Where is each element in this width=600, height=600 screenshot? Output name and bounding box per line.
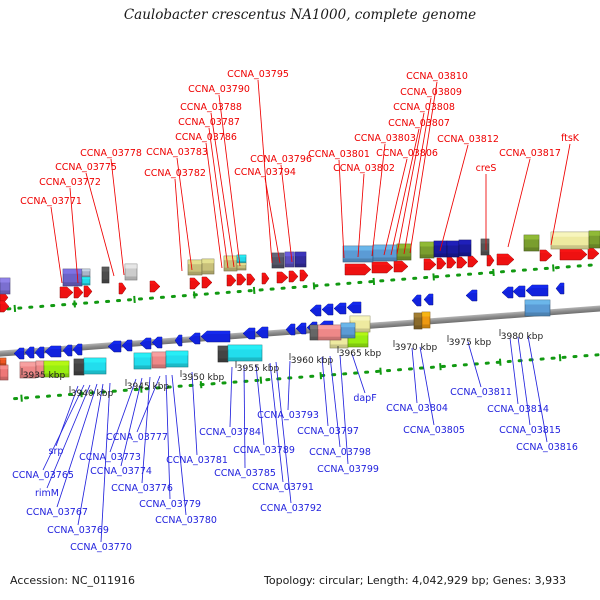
- reverse-gene-arrow[interactable]: [310, 305, 321, 316]
- forward-gene-label[interactable]: CCNA_03808: [393, 102, 455, 113]
- feature-track: [0, 231, 600, 399]
- reverse-gene-label[interactable]: CCNA_03797: [297, 426, 359, 437]
- reverse-gene-arrow[interactable]: [347, 302, 361, 313]
- upper-feature-box[interactable]: [102, 267, 109, 283]
- forward-gene-arrow[interactable]: [497, 254, 514, 265]
- reverse-gene-label[interactable]: CCNA_03816: [516, 442, 578, 453]
- upper-feature-box[interactable]: [82, 269, 90, 277]
- upper-feature-box[interactable]: [0, 278, 10, 294]
- upper-feature-box[interactable]: [524, 235, 539, 251]
- reverse-gene-label[interactable]: CCNA_03774: [90, 466, 152, 477]
- forward-gene-arrow[interactable]: [447, 257, 456, 268]
- forward-gene-label[interactable]: CCNA_03790: [188, 84, 250, 95]
- gene-leader-line: [111, 159, 124, 275]
- reverse-gene-label[interactable]: dapF: [353, 393, 376, 404]
- forward-gene-labels: CCNA_03771CCNA_03772CCNA_03775CCNA_03778…: [20, 69, 580, 207]
- reverse-gene-labels: CCNA_03765rimMCCNA_03767CCNA_03769CCNA_0…: [12, 387, 578, 553]
- forward-gene-arrow[interactable]: [560, 249, 587, 260]
- forward-gene-arrow[interactable]: [540, 250, 552, 261]
- forward-gene-label[interactable]: CCNA_03795: [227, 69, 289, 80]
- genome-summary-text: Topology: circular; Length: 4,042,929 bp…: [263, 574, 566, 587]
- reverse-gene-label[interactable]: CCNA_03767: [26, 507, 88, 518]
- gene-leader-line: [322, 357, 328, 426]
- forward-gene-arrow[interactable]: [289, 271, 298, 282]
- forward-gene-arrow[interactable]: [190, 278, 200, 289]
- gene-leader-line: [288, 361, 290, 410]
- reverse-gene-label[interactable]: CCNA_03773: [79, 452, 141, 463]
- gene-leader-line: [358, 174, 364, 257]
- forward-gene-arrow[interactable]: [487, 255, 494, 266]
- reverse-gene-arrow[interactable]: [334, 303, 346, 314]
- reverse-gene-label[interactable]: CCNA_03765: [12, 470, 74, 481]
- genome-browser-view: Caulobacter crescentus NA1000, complete …: [0, 0, 600, 600]
- axis-tick-label: 3960 kbp: [291, 356, 334, 366]
- gene-leader-line: [281, 165, 292, 262]
- forward-gene-label[interactable]: CCNA_03794: [234, 167, 296, 178]
- reverse-gene-label[interactable]: rimM: [35, 488, 59, 499]
- reverse-gene-label[interactable]: CCNA_03789: [233, 445, 295, 456]
- reverse-gene-label[interactable]: CCNA_03784: [199, 427, 261, 438]
- forward-gene-arrow[interactable]: [60, 287, 73, 298]
- upper-feature-box[interactable]: [373, 245, 397, 261]
- forward-gene-label[interactable]: CCNA_03783: [146, 147, 208, 158]
- upper-feature-box[interactable]: [224, 256, 237, 271]
- axis-tick-label: 3980 kbp: [501, 332, 544, 342]
- reverse-gene-label[interactable]: CCNA_03776: [111, 483, 173, 494]
- forward-gene-arrow[interactable]: [437, 258, 446, 269]
- axis-tick-label: 3950 kbp: [182, 373, 225, 383]
- forward-gene-label[interactable]: CCNA_03809: [400, 87, 462, 98]
- forward-gene-arrow[interactable]: [84, 286, 92, 297]
- reverse-gene-arrow[interactable]: [175, 335, 182, 346]
- forward-gene-arrow[interactable]: [345, 264, 371, 275]
- reverse-gene-label[interactable]: CCNA_03785: [214, 468, 276, 479]
- upper-feature-box[interactable]: [481, 239, 489, 255]
- reverse-gene-arrow[interactable]: [513, 286, 525, 297]
- gene-leader-line: [86, 173, 114, 276]
- gene-leader-line: [372, 144, 385, 256]
- gene-leader-line: [192, 372, 197, 455]
- forward-gene-label[interactable]: CCNA_03801: [308, 149, 370, 160]
- forward-gene-label[interactable]: ftsK: [561, 133, 580, 144]
- forward-gene-arrow[interactable]: [300, 270, 308, 281]
- upper-feature-box[interactable]: [125, 264, 137, 280]
- reverse-gene-arrow[interactable]: [140, 338, 151, 349]
- lower-feature-box[interactable]: [341, 323, 355, 338]
- forward-gene-arrow[interactable]: [202, 277, 212, 288]
- reverse-gene-label[interactable]: CCNA_03770: [70, 542, 132, 553]
- forward-gene-label[interactable]: CCNA_03788: [180, 102, 242, 113]
- reverse-gene-arrow[interactable]: [466, 290, 477, 301]
- forward-gene-arrow[interactable]: [394, 261, 408, 272]
- axis-tick-label: 3975 kbp: [449, 338, 492, 348]
- forward-gene-arrow[interactable]: [150, 281, 160, 292]
- forward-gene-label[interactable]: CCNA_03786: [175, 132, 237, 143]
- lower-feature-box[interactable]: [414, 313, 422, 329]
- forward-gene-arrow[interactable]: [372, 262, 393, 273]
- reverse-gene-label[interactable]: CCNA_03792: [260, 503, 322, 514]
- lower-feature-box[interactable]: [152, 352, 166, 368]
- lower-feature-box[interactable]: [525, 300, 550, 316]
- reverse-gene-label[interactable]: CCNA_03815: [499, 425, 561, 436]
- forward-gene-label[interactable]: CCNA_03803: [354, 133, 416, 144]
- gene-leader-line: [265, 178, 280, 263]
- gene-leader-line: [339, 160, 344, 258]
- gene-leader-line: [209, 128, 228, 268]
- reverse-gene-label[interactable]: CCNA_03799: [317, 464, 379, 475]
- upper-feature-box[interactable]: [237, 255, 246, 263]
- reverse-gene-label[interactable]: CCNA_03781: [166, 455, 228, 466]
- forward-gene-arrow[interactable]: [227, 275, 236, 286]
- upper-feature-box[interactable]: [237, 263, 246, 270]
- upper-feature-box[interactable]: [188, 260, 202, 275]
- upper-feature-box[interactable]: [272, 253, 284, 268]
- forward-gene-label[interactable]: CCNA_03787: [178, 117, 240, 128]
- lower-feature-box[interactable]: [134, 353, 151, 369]
- reverse-gene-label[interactable]: CCNA_03793: [257, 410, 319, 421]
- axis-tick-label: 3945 kbp: [127, 382, 170, 392]
- lower-feature-box[interactable]: [166, 351, 188, 367]
- lower-feature-box[interactable]: [218, 346, 228, 362]
- reverse-gene-arrow[interactable]: [412, 295, 421, 306]
- upper-feature-box[interactable]: [589, 231, 600, 248]
- forward-gene-arrow[interactable]: [457, 257, 467, 268]
- lower-feature-box[interactable]: [0, 365, 8, 380]
- forward-gene-label[interactable]: CCNA_03817: [499, 148, 561, 159]
- upper-feature-box[interactable]: [63, 269, 82, 286]
- reverse-gene-arrow[interactable]: [556, 283, 564, 294]
- gene-leader-line: [172, 375, 186, 515]
- forward-gene-arrow[interactable]: [74, 287, 83, 298]
- upper-feature-box[interactable]: [82, 277, 90, 285]
- reverse-gene-arrow[interactable]: [189, 333, 200, 344]
- reverse-gene-arrow[interactable]: [526, 285, 548, 296]
- forward-gene-arrow[interactable]: [119, 283, 126, 294]
- lower-feature-box[interactable]: [318, 325, 341, 340]
- upper-feature-box[interactable]: [551, 232, 589, 249]
- axis-tick-label: 3965 kbp: [339, 349, 382, 359]
- lower-feature-box[interactable]: [228, 345, 262, 361]
- reverse-gene-label[interactable]: CCNA_03804: [386, 403, 448, 414]
- reverse-gene-label[interactable]: CCNA_03811: [450, 387, 512, 398]
- upper-feature-box[interactable]: [202, 259, 214, 274]
- forward-gene-label[interactable]: CCNA_03772: [39, 177, 101, 188]
- forward-gene-label[interactable]: CCNA_03782: [144, 168, 206, 179]
- reverse-gene-label[interactable]: CCNA_03798: [309, 447, 371, 458]
- page-title: Caulobacter crescentus NA1000, complete …: [124, 7, 476, 23]
- axis-tick-label: 3955 kbp: [237, 364, 280, 374]
- axis-tick-label: 3940 kbp: [71, 389, 114, 399]
- gene-leader-line: [551, 144, 570, 245]
- forward-gene-label[interactable]: CCNA_03796: [250, 154, 312, 165]
- upper-feature-box[interactable]: [420, 242, 434, 258]
- forward-gene-label[interactable]: CCNA_03812: [437, 134, 499, 145]
- reverse-gene-arrow[interactable]: [502, 287, 513, 298]
- reverse-gene-arrow[interactable]: [322, 304, 333, 315]
- forward-gene-label[interactable]: CCNA_03802: [333, 163, 395, 174]
- lower-feature-box[interactable]: [0, 358, 6, 365]
- axis-tick-label: 3935 kbp: [23, 371, 66, 381]
- gene-leader-line: [508, 159, 530, 247]
- upper-feature-box[interactable]: [285, 252, 294, 267]
- gene-leader-line: [175, 179, 182, 271]
- forward-gene-arrow[interactable]: [424, 259, 436, 270]
- forward-gene-arrow[interactable]: [468, 256, 478, 267]
- lower-feature-box[interactable]: [84, 358, 106, 374]
- reverse-gene-label[interactable]: CCNA_03805: [403, 425, 465, 436]
- forward-gene-arrow[interactable]: [262, 273, 269, 284]
- upper-feature-box[interactable]: [447, 241, 459, 257]
- accession-text: Accession: NC_011916: [10, 574, 135, 587]
- reverse-gene-arrow[interactable]: [201, 331, 230, 342]
- upper-feature-box[interactable]: [459, 240, 471, 256]
- gene-leader-line: [270, 363, 283, 482]
- lower-feature-box[interactable]: [422, 312, 430, 328]
- forward-gene-arrow[interactable]: [237, 274, 246, 285]
- forward-gene-arrow[interactable]: [588, 248, 599, 259]
- gene-leader-line: [230, 367, 232, 427]
- reverse-gene-label[interactable]: CCNA_03814: [487, 404, 549, 415]
- gene-leader-line: [412, 348, 417, 403]
- forward-gene-label[interactable]: CCNA_03771: [20, 196, 82, 207]
- lower-feature-box[interactable]: [310, 325, 318, 340]
- reverse-gene-arrow[interactable]: [152, 337, 162, 348]
- reverse-gene-label[interactable]: CCNA_03779: [139, 499, 201, 510]
- upper-feature-box[interactable]: [295, 252, 306, 267]
- forward-gene-label[interactable]: CCNA_03810: [406, 71, 468, 82]
- gene-leader-line: [51, 207, 62, 283]
- forward-gene-arrow[interactable]: [277, 272, 288, 283]
- reverse-gene-label[interactable]: CCNA_03791: [252, 482, 314, 493]
- reverse-gene-label[interactable]: CCNA_03780: [155, 515, 217, 526]
- forward-gene-label[interactable]: creS: [476, 163, 497, 174]
- forward-gene-label[interactable]: CCNA_03775: [55, 162, 117, 173]
- reverse-gene-label[interactable]: CCNA_03769: [47, 525, 109, 536]
- lower-feature-box[interactable]: [74, 359, 84, 375]
- gene-leader-line: [468, 342, 481, 387]
- axis-tick-label: 3970 kbp: [395, 343, 438, 353]
- forward-gene-label[interactable]: CCNA_03806: [376, 148, 438, 159]
- reverse-gene-arrow[interactable]: [25, 347, 34, 358]
- reverse-gene-arrow[interactable]: [424, 294, 433, 305]
- forward-gene-arrow[interactable]: [247, 274, 255, 285]
- gene-leader-line: [440, 145, 468, 251]
- forward-gene-label[interactable]: CCNA_03778: [80, 148, 142, 159]
- forward-gene-label[interactable]: CCNA_03807: [388, 118, 450, 129]
- reverse-gene-label[interactable]: srp: [49, 446, 64, 457]
- reverse-gene-label[interactable]: CCNA_03777: [106, 432, 168, 443]
